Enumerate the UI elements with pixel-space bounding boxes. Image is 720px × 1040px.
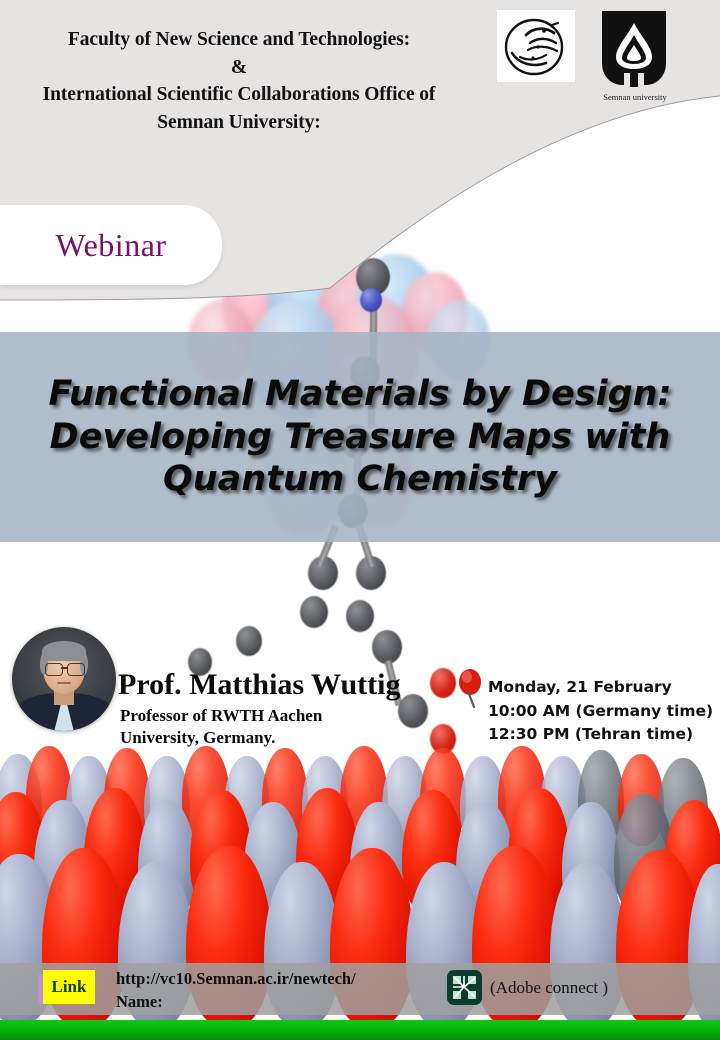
speaker-affiliation-line-2: University, Germany. bbox=[120, 727, 322, 749]
link-badge-label: Link bbox=[52, 977, 87, 997]
semnan-university-shield-logo bbox=[594, 7, 674, 89]
schedule-block: Monday, 21 February 10:00 AM (Germany ti… bbox=[488, 676, 713, 747]
header-line-3: Semnan University: bbox=[0, 109, 478, 137]
adobe-connect-label: (Adobe connect ) bbox=[490, 978, 608, 998]
title-line-3: Quantum Chemistry bbox=[163, 458, 557, 501]
webinar-url[interactable]: http://vc10.Semnan.ac.ir/newtech/ bbox=[116, 968, 356, 991]
title-line-2: Developing Treasure Maps with bbox=[50, 416, 671, 459]
footer-bar bbox=[0, 963, 720, 1015]
link-badge[interactable]: Link bbox=[43, 970, 95, 1004]
webinar-badge: Webinar bbox=[0, 205, 222, 285]
header-organization-text: Faculty of New Science and Technologies:… bbox=[0, 26, 478, 137]
header-line-1: Faculty of New Science and Technologies: bbox=[0, 26, 478, 54]
speaker-portrait bbox=[12, 627, 116, 731]
speaker-name: Prof. Matthias Wuttig bbox=[118, 668, 401, 702]
title-banner: Functional Materials by Design: Developi… bbox=[0, 332, 720, 542]
adobe-connect-icon bbox=[447, 970, 482, 1005]
persian-calligraphy-logo bbox=[497, 10, 575, 82]
webinar-label: Webinar bbox=[55, 227, 166, 264]
header-ampersand: & bbox=[0, 54, 478, 82]
green-base-strip bbox=[0, 1020, 720, 1040]
webinar-name-field-label: Name: bbox=[116, 991, 356, 1014]
title-line-1: Functional Materials by Design: bbox=[48, 373, 671, 416]
schedule-time-tehran: 12:30 PM (Tehran time) bbox=[488, 723, 713, 747]
header-line-2: International Scientific Collaborations … bbox=[0, 81, 478, 109]
schedule-time-germany: 10:00 AM (Germany time) bbox=[488, 700, 713, 724]
schedule-date: Monday, 21 February bbox=[488, 676, 713, 700]
logo-caption: Semnan university bbox=[588, 92, 682, 102]
red-pushpin-icon bbox=[458, 668, 484, 708]
webinar-poster: Faculty of New Science and Technologies:… bbox=[0, 0, 720, 1040]
webinar-url-block[interactable]: http://vc10.Semnan.ac.ir/newtech/ Name: bbox=[116, 968, 356, 1014]
speaker-affiliation-line-1: Professor of RWTH Aachen bbox=[120, 705, 322, 727]
speaker-affiliation: Professor of RWTH Aachen University, Ger… bbox=[120, 705, 322, 749]
